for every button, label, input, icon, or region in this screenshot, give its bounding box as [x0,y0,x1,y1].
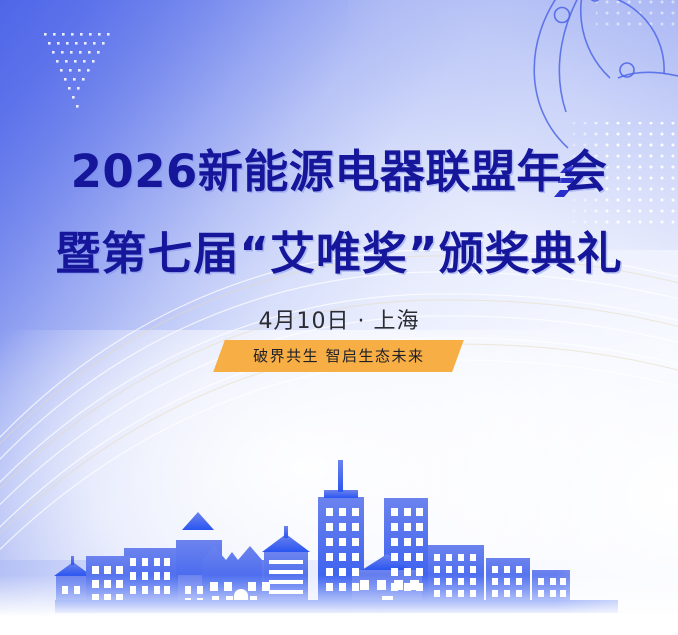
title-line-2: 暨第七届“艾唯奖”颁奖典礼 [0,226,678,282]
event-poster: 2026新能源电器联盟年会 暨第七届“艾唯奖”颁奖典礼 4月10日 · 上海 破… [0,0,678,635]
tagline-shape: 破界共生 智启生态未来 [214,340,465,372]
tagline-banner: 破界共生 智启生态未来 [0,340,678,372]
event-date-location: 4月10日 · 上海 [0,303,678,335]
page-title: 2026新能源电器联盟年会 暨第七届“艾唯奖”颁奖典礼 [0,144,678,282]
title-line-1: 2026新能源电器联盟年会 [0,144,678,200]
tagline-text: 破界共生 智启生态未来 [254,345,425,366]
poster-content: 2026新能源电器联盟年会 暨第七届“艾唯奖”颁奖典礼 4月10日 · 上海 破… [0,0,678,635]
